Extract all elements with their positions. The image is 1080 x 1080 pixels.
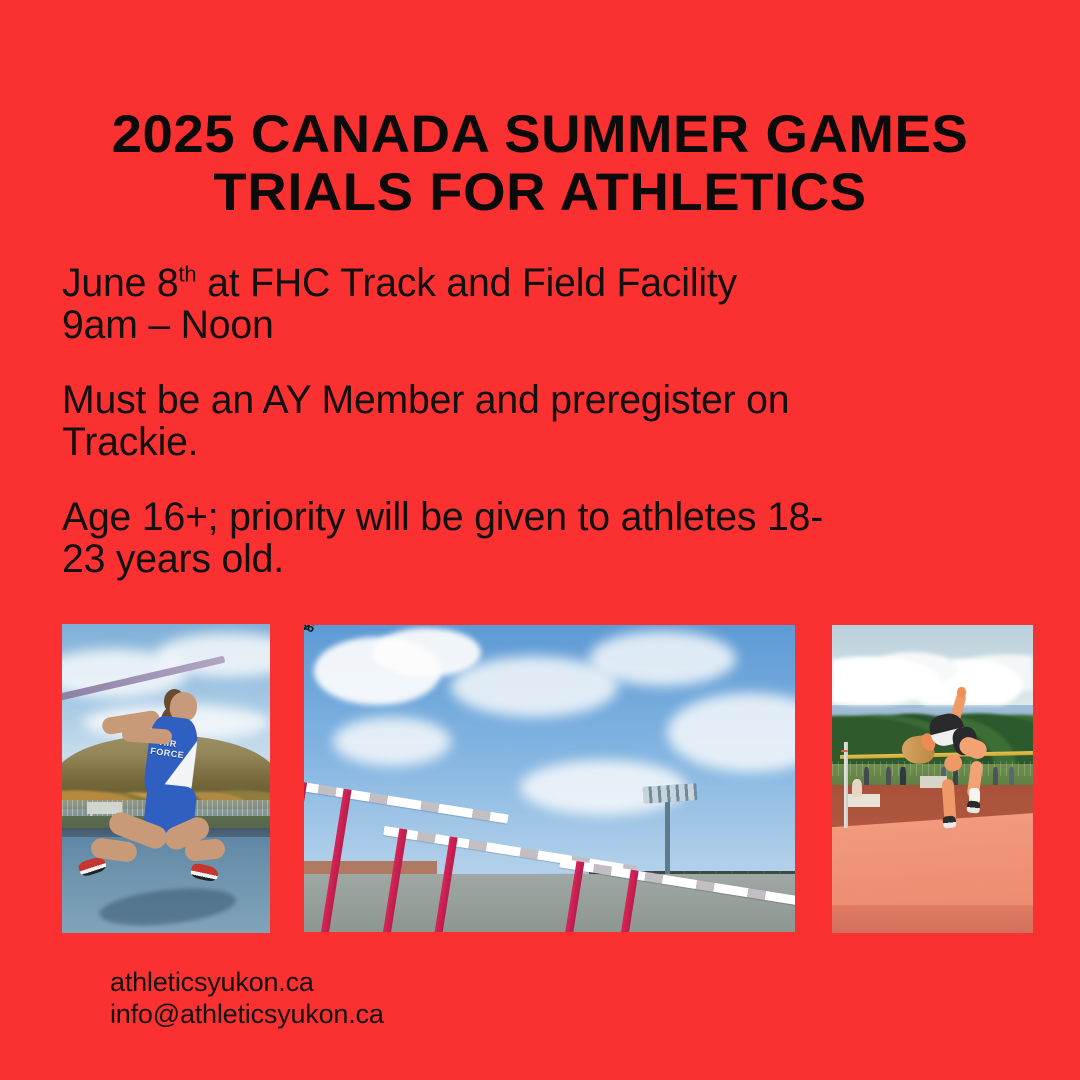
event-date-text: June 8: [62, 261, 179, 305]
event-venue-text: at FHC Track and Field Facility: [196, 261, 737, 305]
event-details-paragraph: June 8th at FHC Track and Field Facility…: [62, 262, 1003, 346]
membership-line-2: Trackie.: [62, 421, 1003, 463]
age-requirement-line-1: Age 16+; priority will be given to athle…: [62, 496, 1003, 538]
hurdles-race-photo: 32 156: [304, 625, 795, 932]
jumper-upper-shoe: [966, 800, 980, 814]
high-jump-photo: [832, 625, 1033, 933]
perimeter-fence: [832, 761, 1033, 776]
athlete-right-arm: [122, 726, 173, 745]
body-copy: June 8th at FHC Track and Field Facility…: [62, 262, 1003, 580]
age-requirement-line-2: 23 years old.: [62, 538, 1003, 580]
contact-info: athleticsyukon.ca info@athleticsyukon.ca: [110, 966, 384, 1030]
stadium-light-head: [642, 783, 697, 804]
cloud: [333, 717, 451, 766]
email-address[interactable]: info@athleticsyukon.ca: [110, 998, 384, 1030]
ordinal-suffix: th: [179, 262, 197, 287]
page-title-line-1: 2025 CANADA SUMMER GAMES: [0, 106, 1080, 164]
ground: [304, 874, 795, 932]
spectator: [993, 767, 998, 787]
poster-canvas: 2025 CANADA SUMMER GAMES TRIALS FOR ATHL…: [0, 0, 1080, 1080]
age-requirement-paragraph: Age 16+; priority will be given to athle…: [62, 496, 1003, 580]
membership-paragraph: Must be an AY Member and preregister on …: [62, 379, 1003, 463]
high-jump-scene: [832, 625, 1033, 933]
spectator: [900, 767, 905, 787]
javelin-throw-photo: AIR FORCE: [62, 624, 270, 933]
jumper-hand: [957, 687, 966, 698]
high-jump-standard: [844, 742, 848, 828]
cloud: [589, 631, 736, 686]
page-title: 2025 CANADA SUMMER GAMES TRIALS FOR ATHL…: [0, 106, 1080, 222]
javelin-scene: AIR FORCE: [62, 624, 270, 933]
seated-spectator: [852, 779, 862, 797]
membership-line-1: Must be an AY Member and preregister on: [62, 379, 1003, 421]
landing-mat-front: [832, 905, 1033, 933]
spectator: [886, 767, 891, 787]
page-title-line-2: TRIALS FOR ATHLETICS: [0, 164, 1080, 222]
spectator: [1009, 767, 1014, 787]
spectator: [864, 767, 869, 787]
event-time-line: 9am – Noon: [62, 304, 1003, 346]
event-date-line: June 8th at FHC Track and Field Facility: [62, 262, 1003, 304]
jumper-lower-shoe: [942, 815, 956, 829]
website-url[interactable]: athleticsyukon.ca: [110, 966, 384, 998]
hurdles-scene: 32 156: [304, 625, 795, 932]
